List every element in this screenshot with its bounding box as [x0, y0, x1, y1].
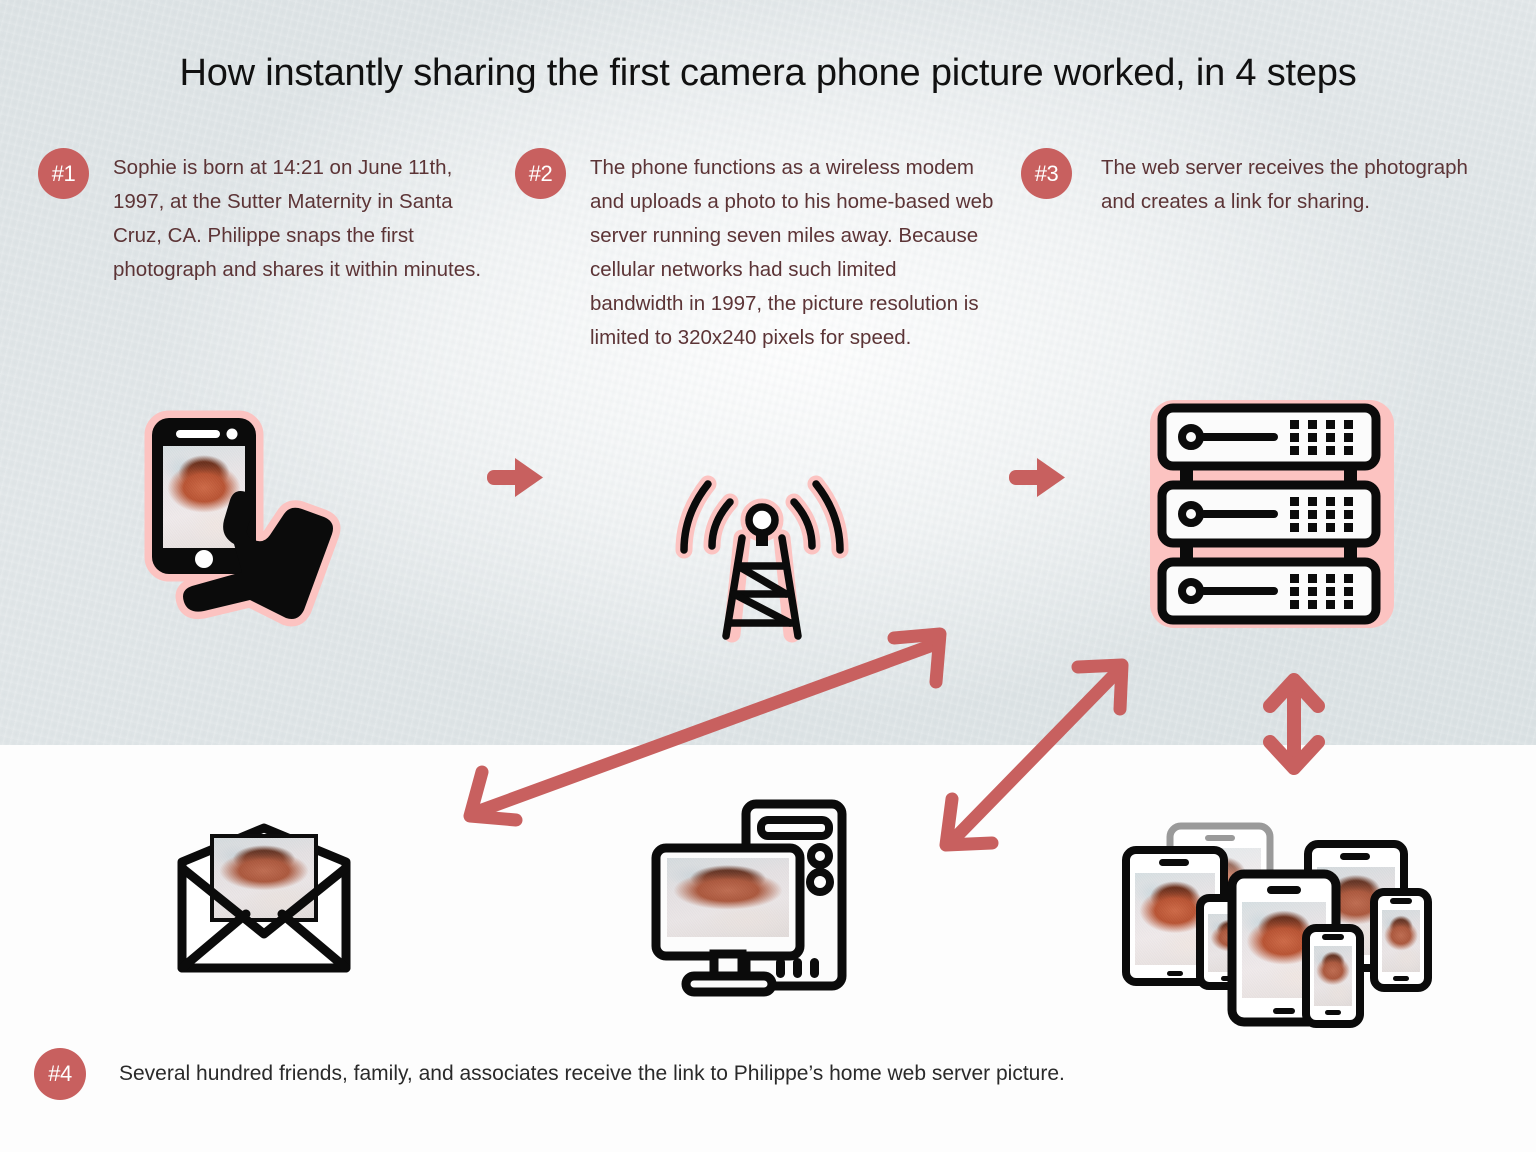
hand-holding-phone-icon	[134, 404, 366, 636]
page-title: How instantly sharing the first camera p…	[0, 52, 1536, 95]
envelope-with-photo-icon	[174, 822, 354, 974]
baby-photograph	[1382, 910, 1420, 972]
desktop-computer-icon	[648, 798, 860, 998]
arrow-server-to-desktop	[928, 635, 1143, 865]
arrow-server-to-devices	[1258, 668, 1330, 780]
server-rack-icon	[1144, 394, 1400, 634]
multi-device-cluster-icon	[1112, 818, 1432, 1036]
step-4-block: #4 Several hundred friends, family, and …	[34, 1046, 1494, 1104]
arrow-tower-to-server	[1007, 452, 1069, 504]
step-2-badge: #2	[515, 148, 566, 199]
step-4-badge: #4	[34, 1048, 86, 1100]
step-4-text: Several hundred friends, family, and ass…	[119, 1059, 1065, 1089]
baby-photograph	[667, 858, 789, 937]
step-2-text: The phone functions as a wireless modem …	[590, 151, 995, 355]
step-3-text: The web server receives the photograph a…	[1101, 151, 1501, 219]
arrow-phone-to-tower	[485, 452, 547, 504]
step-3-badge: #3	[1021, 148, 1072, 199]
infographic-canvas: How instantly sharing the first camera p…	[0, 0, 1536, 1152]
baby-photograph	[1314, 946, 1352, 1006]
step-1-text: Sophie is born at 14:21 on June 11th, 19…	[113, 151, 498, 287]
step-1-badge: #1	[38, 148, 89, 199]
